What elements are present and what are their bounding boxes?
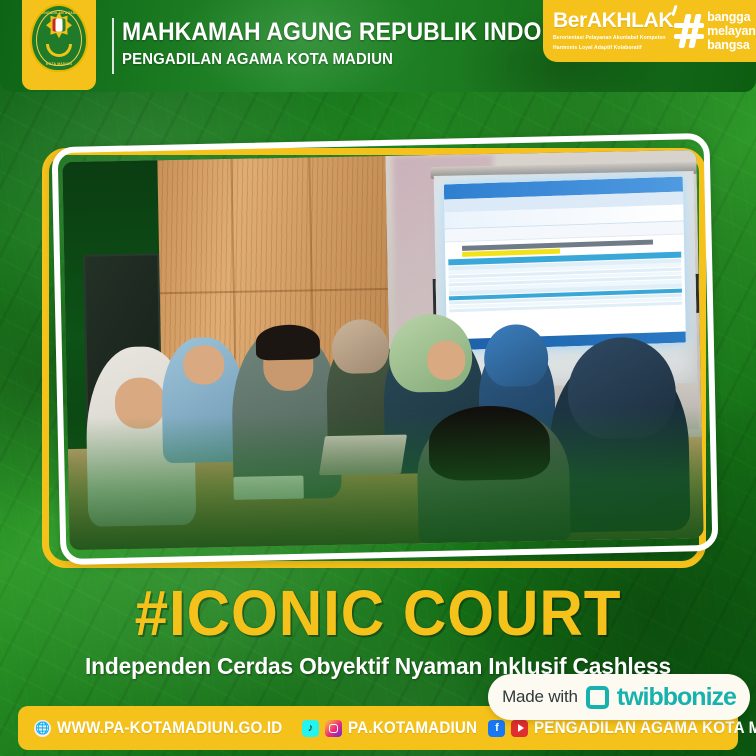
twibbonize-wordmark: twibbonize	[617, 683, 736, 712]
berakhlak-wordmark: BerAKHLAK	[553, 10, 673, 31]
campaign-title-block: #ICONIC COURT Independen Cerdas Obyektif…	[0, 582, 756, 680]
poster-header: PENGADILAN AGAMA KOTA MADIUN MAHKAMAH AG…	[0, 0, 756, 100]
photo-frame: ICNIC	[42, 140, 714, 572]
footer-website[interactable]: 🌐 WWW.PA-KOTAMADIUN.GO.ID	[34, 719, 302, 738]
berakhlak-badge: BerAKHLAK Berorientasi Pelayanan Akuntab…	[543, 0, 756, 62]
organization-title: MAHKAMAH AGUNG REPUBLIK INDONESIA	[122, 18, 612, 46]
footer-social-page[interactable]: f PENGADILAN AGAMA KOTA MADIUN	[488, 719, 756, 738]
berakhlak-tagline-1: Berorientasi Pelayanan Akuntabel Kompete…	[553, 35, 673, 42]
photo-person-face	[427, 341, 466, 381]
berakhlak-slogan: bangga melayani bangsa	[707, 10, 756, 52]
instagram-icon	[325, 720, 342, 737]
berakhlak-slogan-3: bangsa	[707, 38, 756, 52]
photo-person-hair	[256, 324, 320, 360]
youtube-icon	[511, 720, 528, 737]
projected-spreadsheet	[444, 176, 686, 350]
berakhlak-slogan-1: bangga	[707, 10, 756, 24]
globe-icon: 🌐	[34, 720, 51, 737]
campaign-title: #ICONIC COURT	[23, 582, 734, 645]
berakhlak-prefix: Ber	[553, 9, 587, 32]
berakhlak-main: AKHLAK	[587, 9, 673, 32]
court-logo-plate: PENGADILAN AGAMA KOTA MADIUN	[22, 0, 96, 90]
website-label: WWW.PA-KOTAMADIUN.GO.ID	[57, 719, 282, 738]
header-divider	[112, 18, 114, 74]
footer-social-handle[interactable]: ♪ PA.KOTAMADIUN	[302, 719, 488, 738]
social-page-label: PENGADILAN AGAMA KOTA MADIUN	[534, 719, 756, 738]
seal-text-bottom: KOTA MADIUN	[32, 62, 86, 66]
social-handle-label: PA.KOTAMADIUN	[348, 719, 477, 738]
photo-bottom-shadow	[67, 406, 703, 550]
hashtag-icon	[674, 14, 704, 48]
berakhlak-slogan-2: melayani	[707, 24, 756, 38]
twibbonize-badge[interactable]: Made with twibbonize	[488, 674, 750, 720]
meeting-photo: ICNIC	[62, 150, 703, 550]
made-with-label: Made with	[502, 687, 578, 707]
tiktok-icon: ♪	[302, 720, 319, 737]
court-seal-icon: PENGADILAN AGAMA KOTA MADIUN	[30, 4, 88, 72]
twibbonize-square-icon	[586, 686, 609, 709]
facebook-icon: f	[488, 720, 505, 737]
berakhlak-tagline-2: Harmonis Loyal Adaptif Kolaboratif	[553, 45, 673, 52]
photo-person-face	[183, 345, 225, 385]
